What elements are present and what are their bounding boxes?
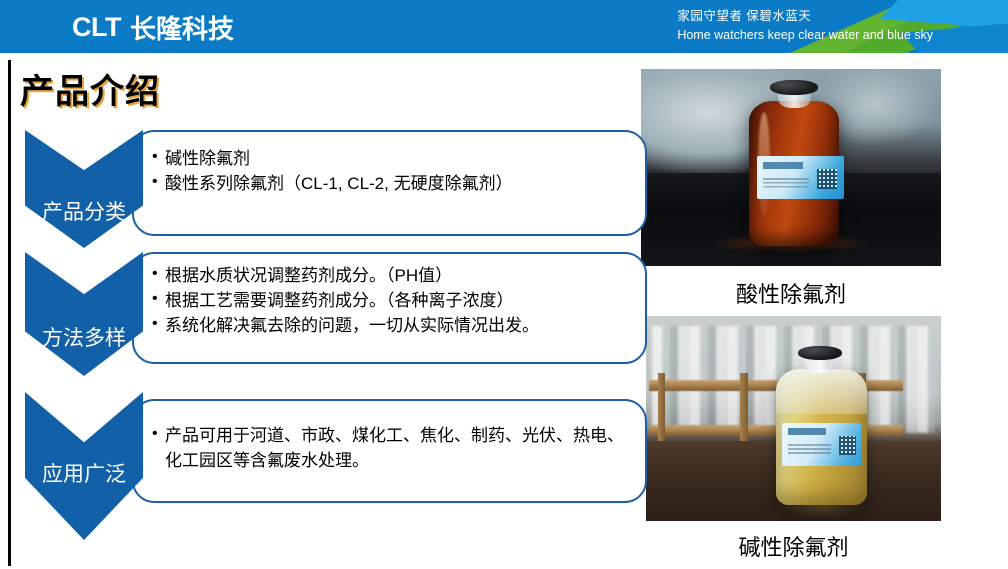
page-title: 产品介绍 — [20, 64, 160, 113]
photo-wooden-post-left — [658, 373, 666, 441]
bottle-label — [782, 423, 862, 466]
section-box-1: 碱性除氟剂 酸性系列除氟剂（CL-1, CL-2, 无硬度除氟剂） — [132, 130, 647, 236]
chevron-shape-2 — [25, 252, 143, 376]
logo-chinese-name: 长隆科技 — [130, 9, 234, 46]
bullet-list-1: 碱性除氟剂 酸性系列除氟剂（CL-1, CL-2, 无硬度除氟剂） — [152, 146, 627, 196]
bottle-cap — [770, 80, 818, 95]
slide-root: CLT 长隆科技 家园守望者 保碧水蓝天 Home watchers keep … — [0, 0, 1008, 569]
bottle-label-text-lines — [763, 178, 808, 191]
bullet-item: 酸性系列除氟剂（CL-1, CL-2, 无硬度除氟剂） — [152, 171, 627, 196]
company-slogan: 家园守望者 保碧水蓝天 Home watchers keep clear wat… — [677, 8, 933, 44]
chevron-shape-1 — [25, 130, 143, 248]
logo-abbreviation: CLT — [72, 12, 121, 43]
company-logo: CLT 长隆科技 — [72, 10, 234, 44]
bullet-list-3: 产品可用于河道、市政、煤化工、焦化、制药、光伏、热电、化工园区等含氟废水处理。 — [152, 423, 629, 473]
photo-wooden-post-mid — [740, 373, 748, 441]
slogan-chinese: 家园守望者 保碧水蓝天 — [677, 8, 933, 25]
section-box-2: 根据水质状况调整药剂成分。（PH值） 根据工艺需要调整药剂成分。（各种离子浓度）… — [132, 252, 647, 364]
section-label-3: 应用广泛 — [25, 458, 143, 488]
bottle-label-title — [763, 162, 803, 169]
bullet-item: 系统化解决氟去除的问题，一切从实际情况出发。 — [152, 313, 627, 338]
bullet-item: 根据工艺需要调整药剂成分。（各种离子浓度） — [152, 288, 627, 313]
bottle-label — [757, 156, 844, 199]
bullet-list-2: 根据水质状况调整药剂成分。（PH值） 根据工艺需要调整药剂成分。（各种离子浓度）… — [152, 263, 627, 338]
section-box-3: 产品可用于河道、市政、煤化工、焦化、制药、光伏、热电、化工园区等含氟废水处理。 — [132, 399, 647, 503]
page-header: CLT 长隆科技 家园守望者 保碧水蓝天 Home watchers keep … — [0, 0, 1008, 53]
product-photo-acidic — [641, 69, 941, 266]
photo-caption-acidic: 酸性除氟剂 — [641, 277, 941, 309]
product-photo-alkaline — [646, 316, 941, 521]
bottle-label-text-lines — [788, 444, 831, 458]
bottle-label-title — [788, 428, 826, 435]
header-underline — [0, 53, 1008, 57]
bullet-item: 产品可用于河道、市政、煤化工、焦化、制药、光伏、热电、化工园区等含氟废水处理。 — [152, 423, 629, 473]
bottle-cap — [798, 346, 842, 360]
section-label-2: 方法多样 — [25, 322, 143, 352]
slogan-english: Home watchers keep clear water and blue … — [677, 27, 933, 44]
bullet-item: 碱性除氟剂 — [152, 146, 627, 171]
bullet-item: 根据水质状况调整药剂成分。（PH值） — [152, 263, 627, 288]
section-label-1: 产品分类 — [25, 196, 143, 226]
photo-caption-alkaline: 碱性除氟剂 — [646, 530, 941, 562]
bottle-headspace — [776, 369, 867, 414]
left-vertical-rule — [8, 60, 11, 566]
